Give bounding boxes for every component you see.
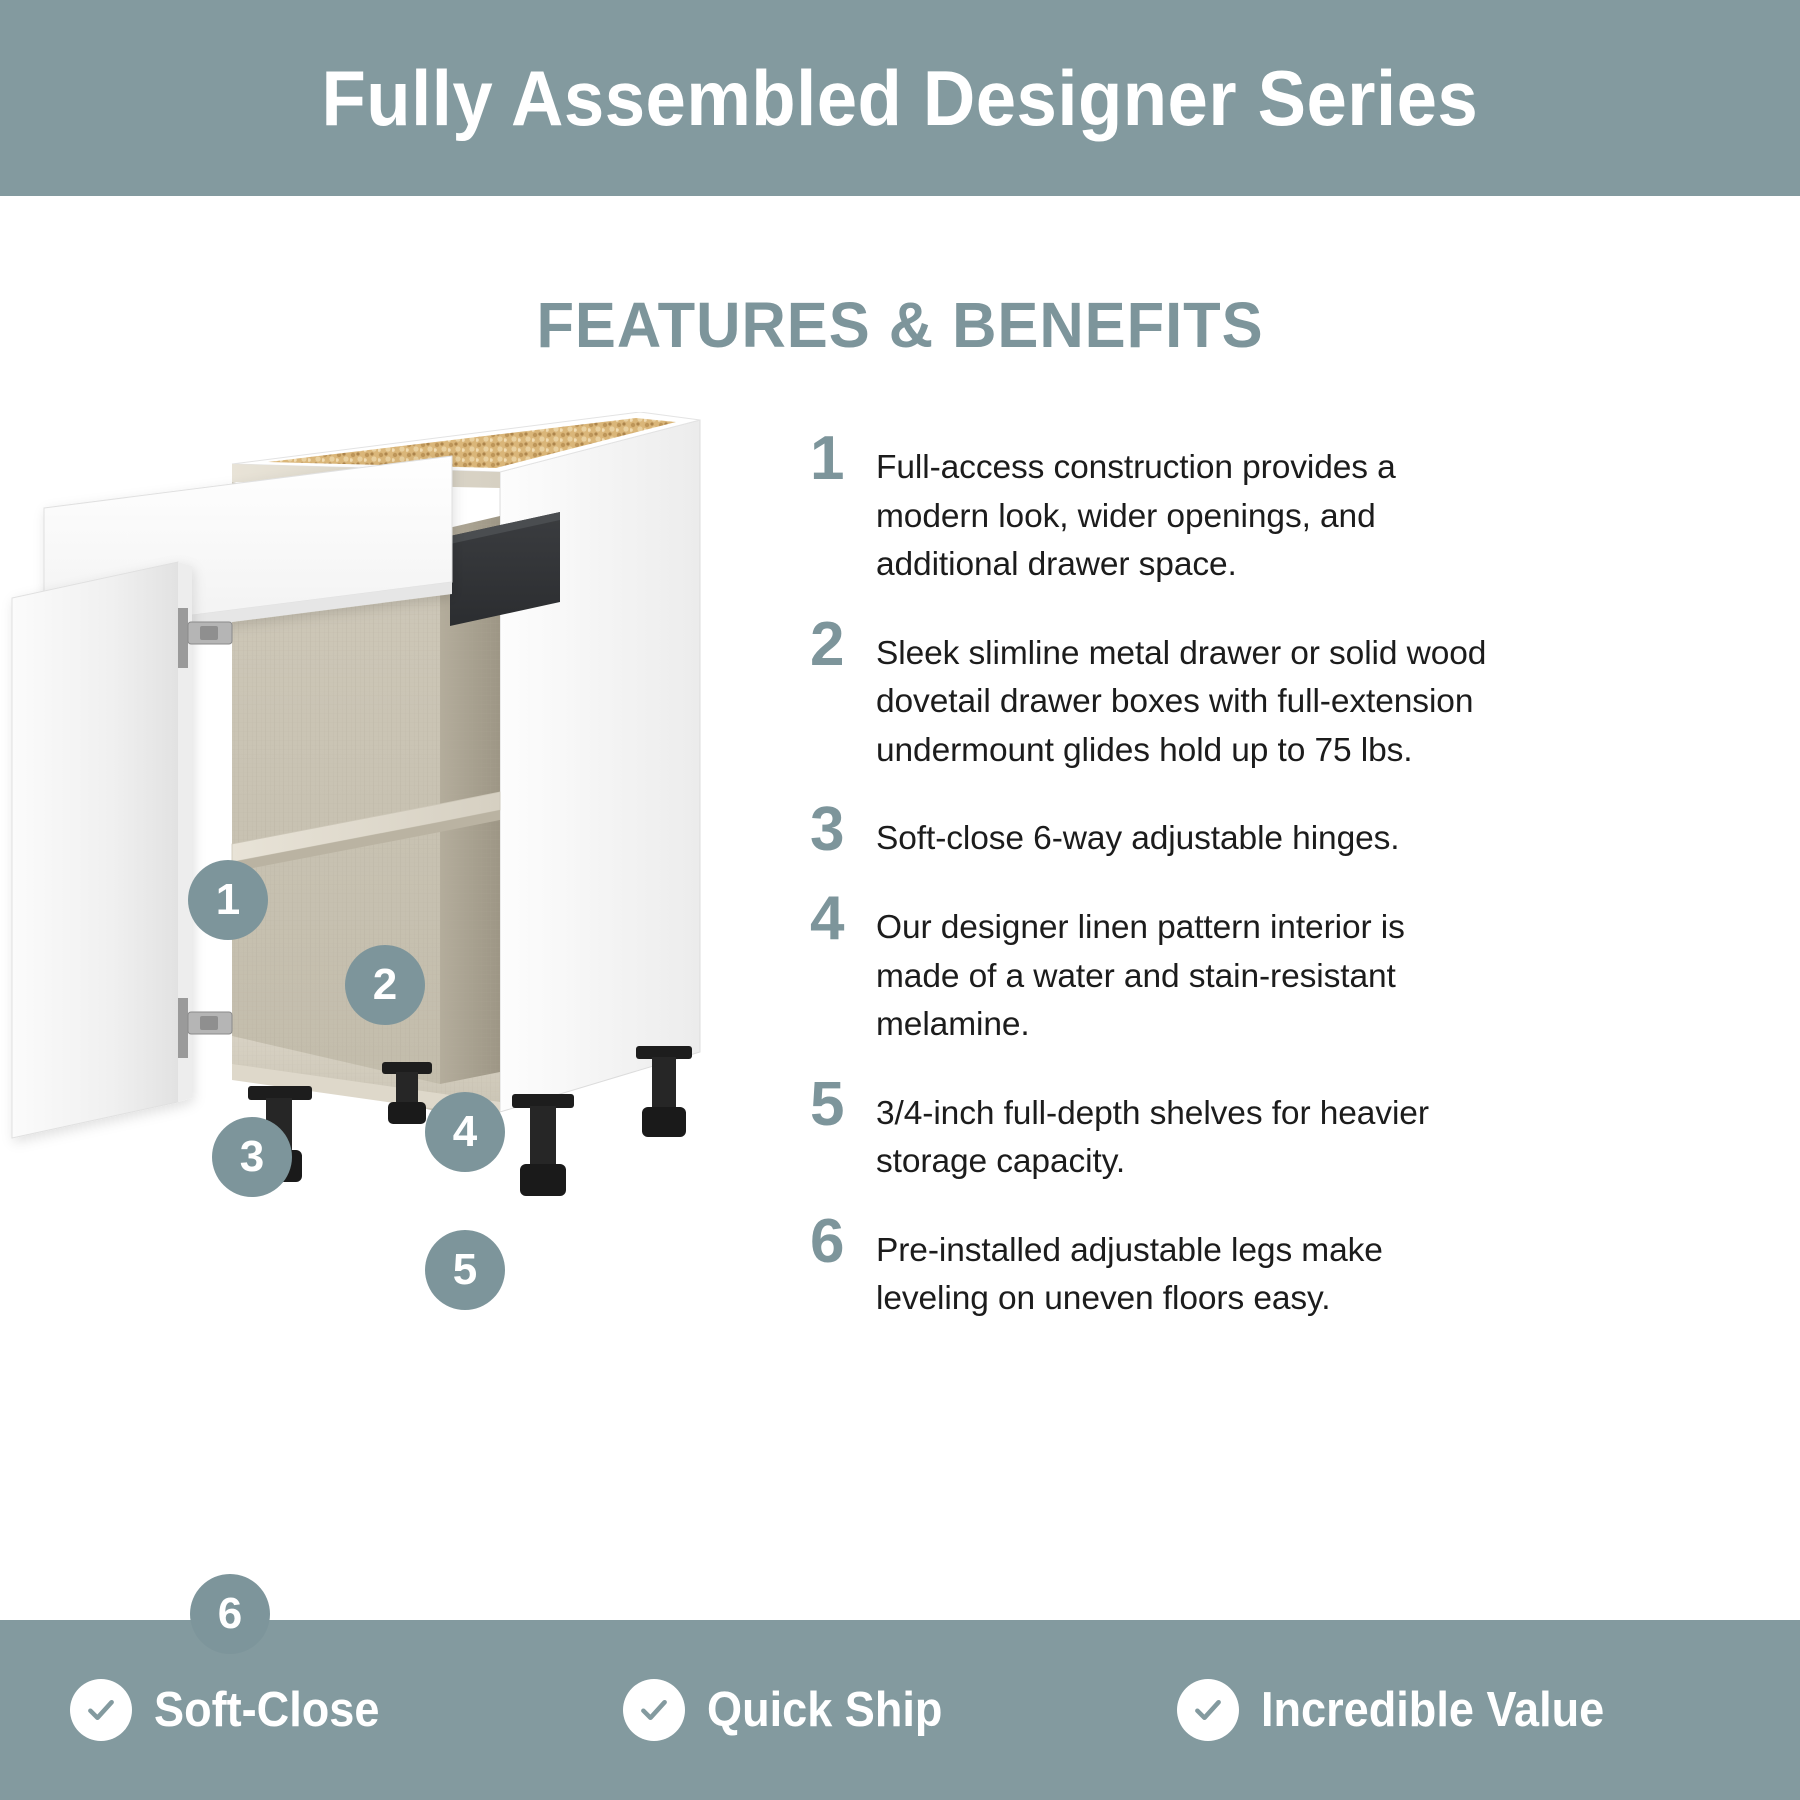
marketing-infographic-page: Fully Assembled Designer Series FEATURES… — [0, 0, 1800, 1800]
product-image-column: 1 2 3 4 5 6 — [0, 412, 810, 1312]
callout-marker-4[interactable]: 4 — [425, 1092, 505, 1172]
feature-item-1: 1 Full-access construction provides a mo… — [810, 430, 1740, 590]
callout-marker-3[interactable]: 3 — [212, 1117, 292, 1197]
feature-item-2: 2 Sleek slimline metal drawer or solid w… — [810, 616, 1740, 776]
footer-badge-soft-close: Soft-Close — [70, 1679, 623, 1741]
check-circle-icon — [623, 1679, 685, 1741]
feature-number-2: 2 — [810, 616, 876, 675]
feature-item-5: 5 3/4-inch full-depth shelves for heavie… — [810, 1076, 1740, 1187]
feature-text-5: 3/4-inch full-depth shelves for heavier … — [876, 1076, 1496, 1187]
footer-badge-label-2: Quick Ship — [707, 1682, 942, 1738]
feature-text-4: Our designer linen pattern interior is m… — [876, 890, 1496, 1050]
header-banner: Fully Assembled Designer Series — [0, 0, 1800, 196]
cabinet-diagram-svg — [0, 412, 810, 1312]
callout-marker-1[interactable]: 1 — [188, 860, 268, 940]
callout-marker-2[interactable]: 2 — [345, 945, 425, 1025]
check-circle-icon — [70, 1679, 132, 1741]
section-title: FEATURES & BENEFITS — [36, 288, 1764, 362]
cabinet-door — [12, 562, 192, 1138]
feature-text-2: Sleek slimline metal drawer or solid woo… — [876, 616, 1496, 776]
footer-badge-label-3: Incredible Value — [1261, 1682, 1604, 1738]
check-circle-icon — [1177, 1679, 1239, 1741]
page-title: Fully Assembled Designer Series — [322, 53, 1479, 144]
feature-number-6: 6 — [810, 1213, 876, 1272]
footer-banner: Soft-Close Quick Ship Incredible Value — [0, 1620, 1800, 1800]
main-content: FEATURES & BENEFITS — [0, 196, 1800, 1620]
callout-marker-5[interactable]: 5 — [425, 1230, 505, 1310]
feature-number-3: 3 — [810, 801, 876, 860]
feature-item-6: 6 Pre-installed adjustable legs make lev… — [810, 1213, 1740, 1324]
feature-number-1: 1 — [810, 430, 876, 489]
feature-text-3: Soft-close 6-way adjustable hinges. — [876, 801, 1400, 864]
feature-number-4: 4 — [810, 890, 876, 949]
features-list: 1 Full-access construction provides a mo… — [810, 412, 1800, 1350]
footer-badge-label-1: Soft-Close — [154, 1682, 379, 1738]
feature-item-3: 3 Soft-close 6-way adjustable hinges. — [810, 801, 1740, 864]
feature-text-6: Pre-installed adjustable legs make level… — [876, 1213, 1496, 1324]
cabinet-illustration: 1 2 3 4 5 6 — [0, 412, 810, 1312]
footer-badge-incredible-value: Incredible Value — [1177, 1679, 1730, 1741]
hinge-lower — [178, 998, 232, 1058]
feature-item-4: 4 Our designer linen pattern interior is… — [810, 890, 1740, 1050]
callout-marker-6[interactable]: 6 — [190, 1574, 270, 1654]
feature-number-5: 5 — [810, 1076, 876, 1135]
content-columns: 1 2 3 4 5 6 1 Full-access construction p… — [0, 412, 1800, 1350]
footer-badge-quick-ship: Quick Ship — [623, 1679, 1176, 1741]
feature-text-1: Full-access construction provides a mode… — [876, 430, 1496, 590]
